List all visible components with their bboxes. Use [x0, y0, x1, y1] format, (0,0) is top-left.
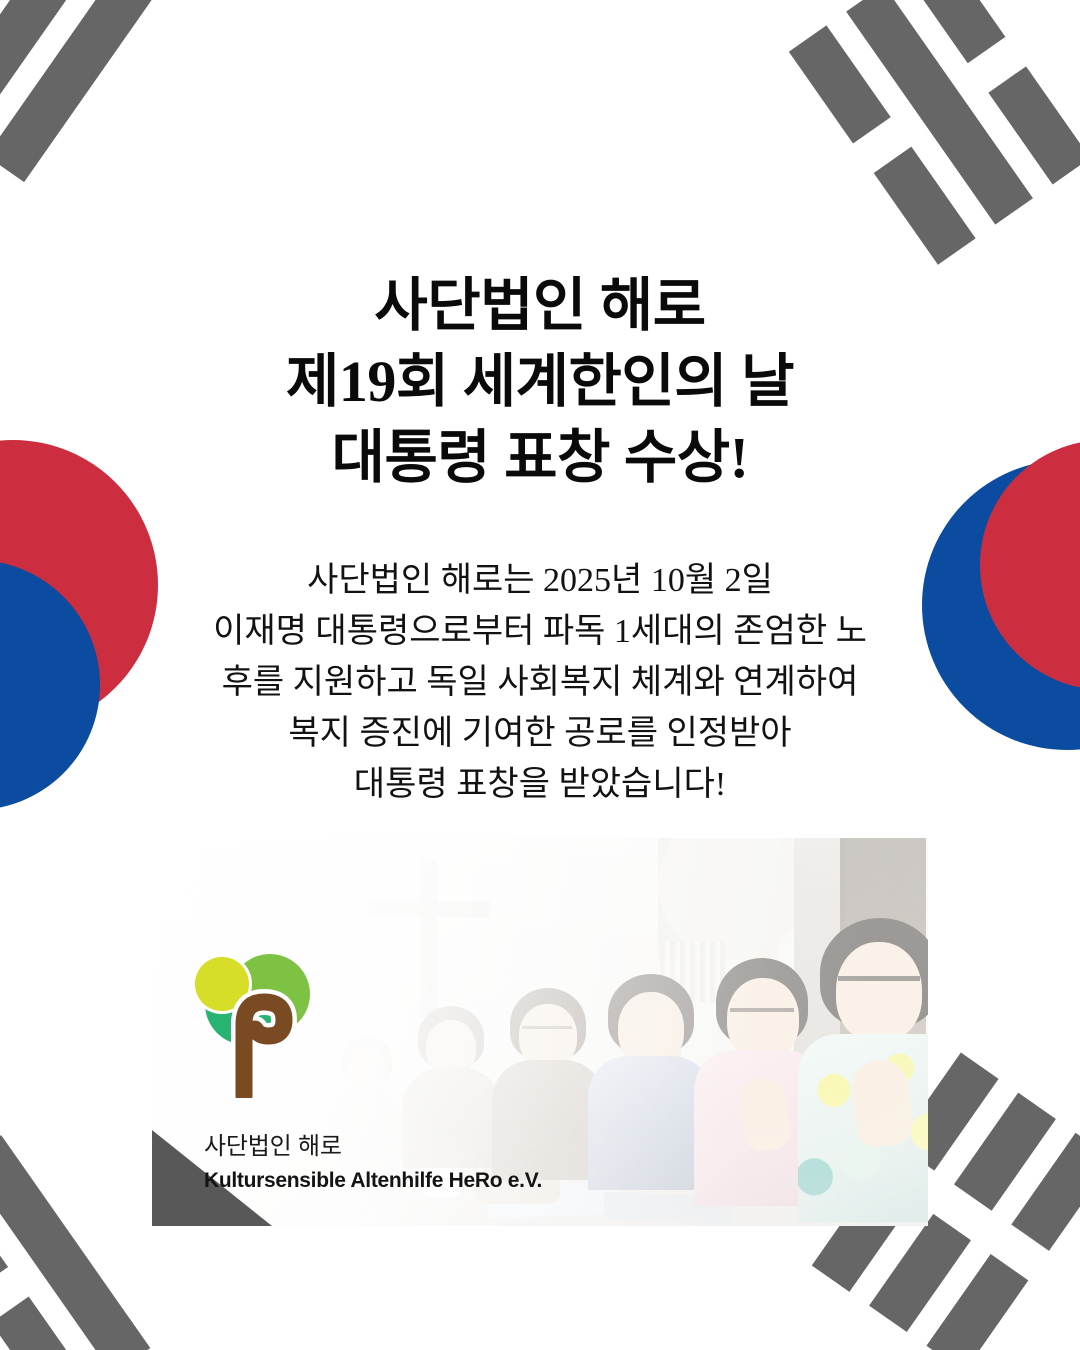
page-title: 사단법인 해로 제19회 세계한인의 날 대통령 표창 수상! — [0, 268, 1080, 496]
body-line-2: 이재명 대통령으로부터 파독 1세대의 존엄한 노 — [0, 606, 1080, 657]
caption-german: Kultursensible Altenhilfe HeRo e.V. — [204, 1169, 542, 1193]
headline-line-3: 대통령 표창 수상! — [0, 420, 1080, 496]
body-line-4: 복지 증진에 기여한 공로를 인정받아 — [0, 708, 1080, 759]
body-line-1: 사단법인 해로는 2025년 10월 2일 — [0, 555, 1080, 606]
body-paragraph: 사단법인 해로는 2025년 10월 2일 이재명 대통령으로부터 파독 1세대… — [0, 555, 1080, 810]
haero-tree-logo — [182, 946, 314, 1098]
photo-card: 사단법인 해로 Kultursensible Altenhilfe HeRo e… — [152, 838, 928, 1226]
poster-canvas: 사단법인 해로 제19회 세계한인의 날 대통령 표창 수상! 사단법인 해로는… — [0, 0, 1080, 1350]
trigram-top-left — [0, 0, 291, 298]
headline-line-1: 사단법인 해로 — [0, 268, 1080, 344]
body-line-3: 후를 지원하고 독일 사회복지 체계와 연계하여 — [0, 657, 1080, 708]
headline-line-2: 제19회 세계한인의 날 — [0, 344, 1080, 420]
logo-caption: 사단법인 해로 Kultursensible Altenhilfe HeRo e… — [204, 1126, 542, 1193]
body-line-5: 대통령 표창을 받았습니다! — [0, 759, 1080, 810]
caption-korean: 사단법인 해로 — [204, 1126, 542, 1161]
trigram-top-right — [789, 0, 1080, 298]
